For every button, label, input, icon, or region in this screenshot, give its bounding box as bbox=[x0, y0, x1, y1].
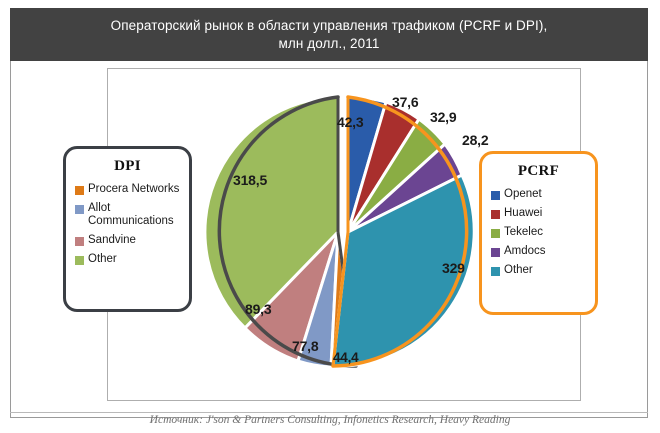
legend-label: Allot Communications bbox=[88, 202, 189, 228]
legend-label: Amdocs bbox=[504, 245, 546, 258]
legend-item-amdocs[interactable]: Amdocs bbox=[491, 245, 595, 258]
legend-swatch-icon bbox=[491, 191, 500, 200]
legend-pcrf-list: Openet Huawei Tekelec Amdocs Other bbox=[482, 188, 595, 277]
source-note: Источник: J'son & Partners Consulting, I… bbox=[0, 414, 660, 426]
title-line-2: млн долл., 2011 bbox=[278, 36, 379, 51]
data-label-sandvine: 89,3 bbox=[245, 301, 271, 317]
legend-item-procera-networks[interactable]: Procera Networks bbox=[75, 183, 189, 196]
page-title: Операторский рынок в области управления … bbox=[71, 17, 588, 53]
data-label-openet: 42,3 bbox=[337, 114, 363, 130]
legend-swatch-icon bbox=[491, 229, 500, 238]
legend-swatch-icon bbox=[491, 248, 500, 257]
data-label-procera: 44,4 bbox=[333, 350, 358, 365]
legend-label: Huawei bbox=[504, 207, 542, 220]
pie-chart-svg bbox=[192, 92, 492, 377]
legend-swatch-icon bbox=[75, 186, 84, 195]
legend-label: Procera Networks bbox=[88, 183, 179, 196]
legend-item-pcrf-other[interactable]: Other bbox=[491, 264, 595, 277]
legend-item-dpi-other[interactable]: Other bbox=[75, 253, 189, 266]
legend-label: Other bbox=[504, 264, 533, 277]
legend-label: Sandvine bbox=[88, 234, 136, 247]
legend-dpi-list: Procera Networks Allot Communications Sa… bbox=[66, 183, 189, 266]
legend-swatch-icon bbox=[491, 267, 500, 276]
legend-swatch-icon bbox=[75, 237, 84, 246]
legend-swatch-icon bbox=[491, 210, 500, 219]
legend-pcrf-title: PCRF bbox=[482, 163, 595, 180]
data-label-dpi-other: 318,5 bbox=[233, 172, 267, 188]
data-label-amdocs: 28,2 bbox=[462, 132, 488, 148]
pie-group-pcrf bbox=[333, 97, 474, 366]
pie-chart: 42,3 37,6 32,9 28,2 329 318,5 89,3 77,8 … bbox=[192, 92, 492, 377]
legend-item-huawei[interactable]: Huawei bbox=[491, 207, 595, 220]
legend-label: Other bbox=[88, 253, 117, 266]
title-line-1: Операторский рынок в области управления … bbox=[111, 18, 548, 33]
legend-label: Tekelec bbox=[504, 226, 543, 239]
legend-item-sandvine[interactable]: Sandvine bbox=[75, 234, 189, 247]
chart-title-bar: Операторский рынок в области управления … bbox=[10, 8, 648, 61]
legend-item-openet[interactable]: Openet bbox=[491, 188, 595, 201]
legend-item-allot-communications[interactable]: Allot Communications bbox=[75, 202, 189, 228]
legend-item-tekelec[interactable]: Tekelec bbox=[491, 226, 595, 239]
legend-label: Openet bbox=[504, 188, 542, 201]
legend-swatch-icon bbox=[75, 256, 84, 265]
legend-swatch-icon bbox=[75, 205, 84, 214]
data-label-huawei: 37,6 bbox=[392, 94, 418, 110]
source-divider bbox=[10, 412, 648, 413]
data-label-allot: 77,8 bbox=[292, 338, 318, 354]
data-label-tekelec: 32,9 bbox=[430, 109, 456, 125]
legend-pcrf[interactable]: PCRF Openet Huawei Tekelec Amdocs Other bbox=[479, 151, 598, 315]
chart-page: Операторский рынок в области управления … bbox=[0, 0, 660, 433]
legend-dpi-title: DPI bbox=[66, 158, 189, 175]
pie-group-dpi bbox=[205, 97, 356, 367]
data-label-pcrf-other: 329 bbox=[442, 260, 465, 276]
legend-dpi[interactable]: DPI Procera Networks Allot Communication… bbox=[63, 146, 192, 312]
